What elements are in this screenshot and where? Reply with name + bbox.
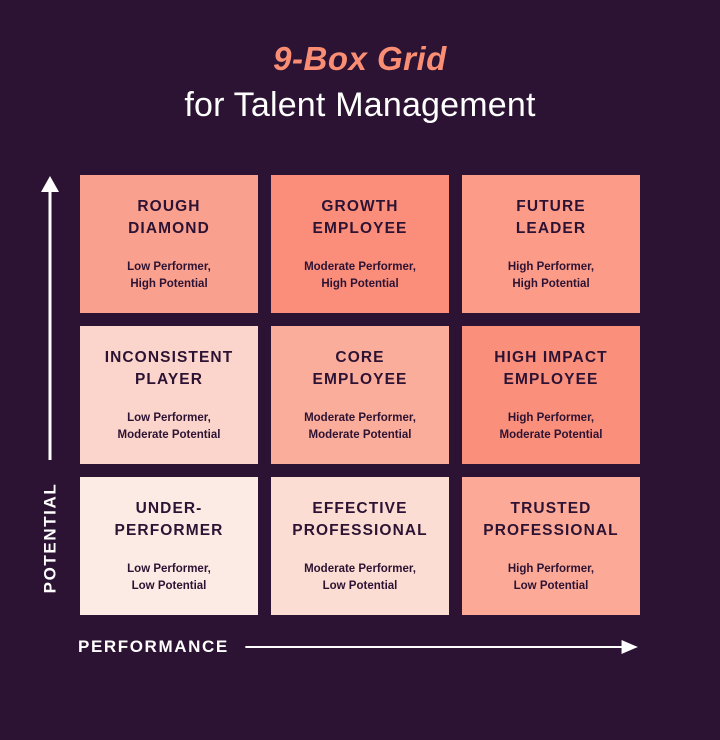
cell-subtitle-line1: Moderate Performer, <box>304 412 416 424</box>
page-title: 9-Box Grid for Talent Management <box>0 38 720 128</box>
cell-title-line1: FUTURE <box>516 198 585 215</box>
cell-title-line2: PERFORMER <box>115 522 224 539</box>
cell-title-line1: TRUSTED <box>511 500 592 517</box>
grid-cell-trusted-professional[interactable]: TRUSTED PROFESSIONAL High Performer, Low… <box>462 477 640 615</box>
cell-subtitle-line2: Moderate Potential <box>500 429 603 441</box>
potential-axis: POTENTIAL <box>30 172 70 617</box>
cell-subtitle-line2: High Potential <box>512 278 589 290</box>
cell-subtitle-line1: High Performer, <box>508 412 594 424</box>
cell-title: ROUGH DIAMOND <box>128 196 210 240</box>
cell-title-line2: PROFESSIONAL <box>292 522 428 539</box>
cell-title: FUTURE LEADER <box>516 196 586 240</box>
cell-subtitle-line1: High Performer, <box>508 563 594 575</box>
potential-axis-label: POTENTIAL <box>40 483 60 594</box>
cell-title: INCONSISTENT PLAYER <box>105 347 234 391</box>
cell-title-line2: EMPLOYEE <box>313 220 408 237</box>
performance-axis-label: PERFORMANCE <box>78 637 229 657</box>
cell-title-line2: LEADER <box>516 220 586 237</box>
grid-cell-high-impact-employee[interactable]: HIGH IMPACT EMPLOYEE High Performer, Mod… <box>462 326 640 464</box>
title-accent-line: 9-Box Grid <box>0 38 720 80</box>
cell-title-line2: PLAYER <box>135 371 203 388</box>
cell-subtitle: Moderate Performer, Low Potential <box>304 561 416 595</box>
cell-subtitle-line1: Moderate Performer, <box>304 563 416 575</box>
cell-title-line2: DIAMOND <box>128 220 210 237</box>
cell-subtitle-line1: High Performer, <box>508 261 594 273</box>
cell-subtitle: Moderate Performer, Moderate Potential <box>304 410 416 444</box>
cell-title: TRUSTED PROFESSIONAL <box>483 498 619 542</box>
grid-cell-rough-diamond[interactable]: ROUGH DIAMOND Low Performer, High Potent… <box>80 175 258 313</box>
cell-title-line1: GROWTH <box>321 198 398 215</box>
cell-title: HIGH IMPACT EMPLOYEE <box>494 347 607 391</box>
cell-title-line1: INCONSISTENT <box>105 349 234 366</box>
cell-title-line1: ROUGH <box>137 198 200 215</box>
cell-subtitle-line2: High Potential <box>130 278 207 290</box>
arrow-right-icon <box>243 635 640 659</box>
cell-title: EFFECTIVE PROFESSIONAL <box>292 498 428 542</box>
cell-subtitle-line1: Low Performer, <box>127 261 211 273</box>
cell-subtitle-line1: Low Performer, <box>127 412 211 424</box>
cell-title: GROWTH EMPLOYEE <box>313 196 408 240</box>
cell-title-line2: PROFESSIONAL <box>483 522 619 539</box>
cell-subtitle-line2: Low Potential <box>323 580 398 592</box>
grid-cell-future-leader[interactable]: FUTURE LEADER High Performer, High Poten… <box>462 175 640 313</box>
cell-title-line1: UNDER- <box>136 500 203 517</box>
cell-subtitle-line2: Low Potential <box>132 580 207 592</box>
cell-subtitle: Low Performer, High Potential <box>127 259 211 293</box>
grid-cell-effective-professional[interactable]: EFFECTIVE PROFESSIONAL Moderate Performe… <box>271 477 449 615</box>
cell-title-line2: EMPLOYEE <box>313 371 408 388</box>
cell-subtitle-line1: Low Performer, <box>127 563 211 575</box>
performance-axis: PERFORMANCE <box>78 632 640 662</box>
cell-subtitle-line2: Low Potential <box>514 580 589 592</box>
cell-title-line1: HIGH IMPACT <box>494 349 607 366</box>
cell-subtitle: High Performer, Moderate Potential <box>500 410 603 444</box>
nine-box-grid: ROUGH DIAMOND Low Performer, High Potent… <box>80 175 640 615</box>
title-main-line: for Talent Management <box>0 82 720 128</box>
cell-subtitle: High Performer, High Potential <box>508 259 594 293</box>
cell-subtitle: Moderate Performer, High Potential <box>304 259 416 293</box>
cell-title-line2: EMPLOYEE <box>504 371 599 388</box>
cell-title: CORE EMPLOYEE <box>313 347 408 391</box>
grid-cell-inconsistent-player[interactable]: INCONSISTENT PLAYER Low Performer, Moder… <box>80 326 258 464</box>
cell-subtitle: Low Performer, Low Potential <box>127 561 211 595</box>
cell-subtitle: High Performer, Low Potential <box>508 561 594 595</box>
arrow-up-icon <box>30 172 70 462</box>
grid-cell-growth-employee[interactable]: GROWTH EMPLOYEE Moderate Performer, High… <box>271 175 449 313</box>
cell-subtitle-line2: Moderate Potential <box>118 429 221 441</box>
grid-cell-core-employee[interactable]: CORE EMPLOYEE Moderate Performer, Modera… <box>271 326 449 464</box>
cell-subtitle-line1: Moderate Performer, <box>304 261 416 273</box>
cell-subtitle-line2: High Potential <box>321 278 398 290</box>
cell-title-line1: EFFECTIVE <box>312 500 407 517</box>
cell-title: UNDER- PERFORMER <box>115 498 224 542</box>
cell-subtitle-line2: Moderate Potential <box>309 429 412 441</box>
cell-subtitle: Low Performer, Moderate Potential <box>118 410 221 444</box>
grid-cell-under-performer[interactable]: UNDER- PERFORMER Low Performer, Low Pote… <box>80 477 258 615</box>
cell-title-line1: CORE <box>335 349 384 366</box>
